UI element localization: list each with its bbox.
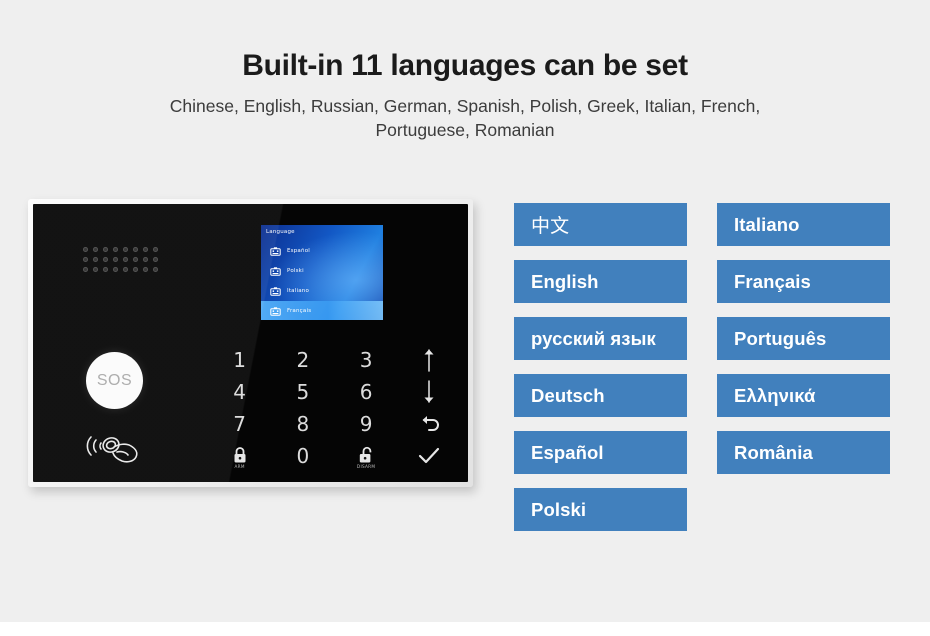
speaker-hole [93,267,98,272]
key-9[interactable]: 9 [335,408,398,440]
language-item-icon [270,307,281,316]
keypad-digit-label: 6 [360,380,373,404]
lcd-language-item-label: Italiano [287,288,309,294]
speaker-hole [103,267,108,272]
lcd-title: Language [266,229,295,235]
device-front-panel: SOS Language [33,204,468,482]
language-button[interactable]: Deutsch [514,374,687,417]
language-list-left: 中文Englishрусский языкDeutschEspañolPolsk… [514,203,687,545]
speaker-hole [113,267,118,272]
language-button[interactable]: Español [514,431,687,474]
language-button-label: русский язык [531,328,656,350]
rfid-card-tap-icon [81,425,147,467]
arrow-down-icon [422,379,436,405]
key-enter[interactable] [398,440,461,472]
lcd-language-item-label: Polski [287,268,304,274]
keypad-digit-label: 0 [297,444,310,468]
language-button[interactable]: русский язык [514,317,687,360]
language-button-label: Polski [531,499,586,521]
speaker-grille [83,247,163,277]
language-button-label: Ελληνικά [734,385,816,407]
speaker-hole [103,247,108,252]
bottom-strip [0,622,930,636]
speaker-hole [143,267,148,272]
language-button[interactable]: English [514,260,687,303]
key-0[interactable]: 0 [271,440,334,472]
language-button[interactable]: Polski [514,488,687,531]
key-up[interactable] [398,344,461,376]
page-subtitle: Chinese, English, Russian, German, Spani… [155,94,775,142]
language-item-icon [270,267,281,276]
alarm-panel-device: SOS Language [28,199,473,487]
key-6[interactable]: 6 [335,376,398,408]
checkmark-icon [417,446,441,466]
speaker-hole [103,257,108,262]
speaker-hole [93,247,98,252]
speaker-hole [123,267,128,272]
keypad-digit-label: 2 [297,348,310,372]
lcd-language-item-label: Français [287,308,311,314]
language-button-label: România [734,442,813,464]
speaker-hole [113,247,118,252]
speaker-hole [133,267,138,272]
keypad: 123456789ARM0DISARM [208,344,461,472]
arrow-up-icon [422,347,436,373]
lock-closed-icon [232,446,248,466]
language-list-right: ItalianoFrançaisPortuguêsΕλληνικάRomânia [717,203,890,488]
language-button[interactable]: Ελληνικά [717,374,890,417]
back-arrow-icon [417,414,441,434]
page-title: Built-in 11 languages can be set [0,46,930,86]
speaker-hole [143,247,148,252]
language-button[interactable]: Italiano [717,203,890,246]
key-back[interactable] [398,408,461,440]
key-arm[interactable]: ARM [208,440,271,472]
language-button[interactable]: Français [717,260,890,303]
key-1[interactable]: 1 [208,344,271,376]
keypad-digit-label: 4 [233,380,246,404]
language-button-label: Español [531,442,604,464]
lcd-language-item[interactable]: Español [261,241,383,261]
key-8[interactable]: 8 [271,408,334,440]
language-button-label: Français [734,271,811,293]
key-2[interactable]: 2 [271,344,334,376]
speaker-hole [83,257,88,262]
keypad-sublabel: ARM [208,464,271,469]
language-button-label: Português [734,328,826,350]
language-button-label: Deutsch [531,385,605,407]
speaker-hole [133,257,138,262]
keypad-sublabel: DISARM [335,464,398,469]
language-item-icon [270,247,281,256]
key-5[interactable]: 5 [271,376,334,408]
keypad-digit-label: 3 [360,348,373,372]
sos-button-label: SOS [97,372,132,390]
keypad-digit-label: 1 [233,348,246,372]
key-4[interactable]: 4 [208,376,271,408]
speaker-hole [83,247,88,252]
key-disarm[interactable]: DISARM [335,440,398,472]
speaker-hole [123,247,128,252]
language-button[interactable]: Português [717,317,890,360]
keypad-digit-label: 8 [297,412,310,436]
lcd-language-item[interactable]: Italiano [261,281,383,301]
keypad-digit-label: 7 [233,412,246,436]
language-button-label: Italiano [734,214,800,236]
lcd-screen: Language EspañolPolskiItalianoFrançais [261,225,383,320]
lcd-language-item[interactable]: Polski [261,261,383,281]
key-3[interactable]: 3 [335,344,398,376]
speaker-hole [153,267,158,272]
keypad-digit-label: 9 [360,412,373,436]
lcd-language-item[interactable]: Français [261,301,383,320]
language-button[interactable]: România [717,431,890,474]
speaker-hole [93,257,98,262]
speaker-hole [113,257,118,262]
key-7[interactable]: 7 [208,408,271,440]
language-item-icon [270,287,281,296]
page-root: Built-in 11 languages can be set Chinese… [0,0,930,636]
speaker-hole [153,247,158,252]
lcd-language-item-label: Español [287,248,310,254]
speaker-hole [133,247,138,252]
language-button-label: 中文 [531,211,569,238]
lcd-language-list: EspañolPolskiItalianoFrançais [261,241,383,320]
speaker-hole [123,257,128,262]
language-button[interactable]: 中文 [514,203,687,246]
speaker-hole [153,257,158,262]
lock-open-icon [358,446,374,466]
speaker-hole [143,257,148,262]
sos-button[interactable]: SOS [86,352,143,409]
language-button-label: English [531,271,599,293]
keypad-digit-label: 5 [297,380,310,404]
header: Built-in 11 languages can be set Chinese… [0,46,930,142]
key-down[interactable] [398,376,461,408]
speaker-hole [83,267,88,272]
